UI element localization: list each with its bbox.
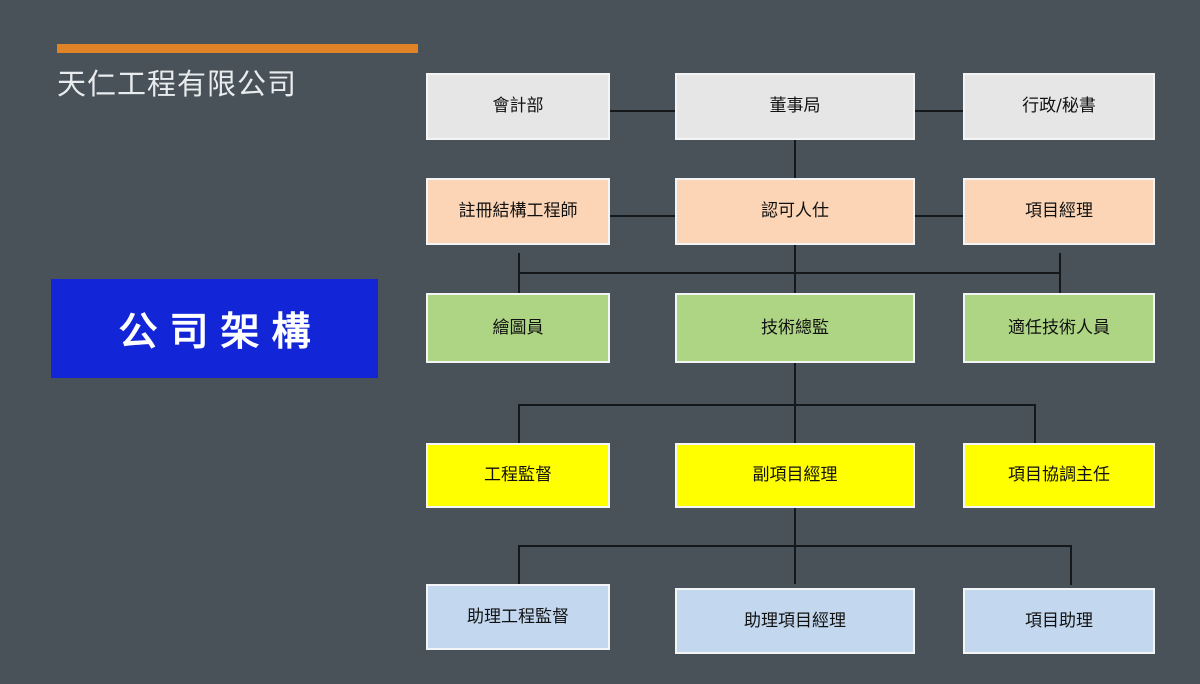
connector-accounting-board [610, 110, 676, 112]
node-label: 繪圖員 [493, 318, 544, 338]
node-project-coordinator[interactable]: 項目協調主任 [963, 443, 1155, 508]
node-qualified-technical-staff[interactable]: 適任技術人員 [963, 293, 1155, 363]
connector-level3-bus [518, 272, 1061, 274]
node-assistant-site-supervisor[interactable]: 助理工程監督 [426, 584, 610, 650]
node-project-assistant[interactable]: 項目助理 [963, 588, 1155, 654]
connector-board-admin [915, 110, 964, 112]
node-label: 項目協調主任 [1008, 465, 1110, 485]
node-label: 認可人仕 [761, 201, 829, 221]
node-project-manager[interactable]: 項目經理 [963, 178, 1155, 245]
node-technical-director[interactable]: 技術總監 [675, 293, 915, 363]
node-label: 行政/秘書 [1022, 96, 1096, 116]
node-label: 助理工程監督 [467, 607, 569, 627]
node-draftsman[interactable]: 繪圖員 [426, 293, 610, 363]
connector-board-authorized [794, 140, 796, 178]
node-admin-secretary[interactable]: 行政/秘書 [963, 73, 1155, 140]
connector-bus-to-sitesuper [518, 404, 520, 444]
node-deputy-project-manager[interactable]: 副項目經理 [675, 443, 915, 508]
connector-bus-to-projasst [1070, 545, 1072, 585]
node-site-supervisor[interactable]: 工程監督 [426, 443, 610, 508]
connector-authorized-pm [915, 215, 964, 217]
connector-bus-to-asstsuper [518, 545, 520, 585]
node-label: 技術總監 [761, 318, 829, 338]
org-chart: 會計部 董事局 行政/秘書 註冊結構工程師 認可人仕 項目經理 繪圖員 技術總監… [0, 0, 1200, 684]
node-assistant-project-manager[interactable]: 助理項目經理 [675, 588, 915, 654]
node-registered-structural-engineer[interactable]: 註冊結構工程師 [426, 178, 610, 245]
connector-bus-to-coordinator [1034, 404, 1036, 444]
connector-level4-bus [518, 404, 1036, 406]
node-label: 工程監督 [484, 465, 552, 485]
node-board[interactable]: 董事局 [675, 73, 915, 140]
org-chart-slide: 天仁工程有限公司 公司架構 會計部 董事局 [0, 0, 1200, 684]
node-label: 適任技術人員 [1008, 318, 1110, 338]
connector-level5-bus [518, 545, 1072, 547]
node-label: 註冊結構工程師 [459, 201, 578, 221]
connector-authorized-down [794, 245, 796, 293]
node-label: 董事局 [770, 96, 821, 116]
node-label: 項目經理 [1025, 201, 1093, 221]
node-authorized-person[interactable]: 認可人仕 [675, 178, 915, 245]
connector-techdirector-down [794, 363, 796, 443]
connector-bus-to-draftsman [518, 253, 520, 293]
node-label: 會計部 [493, 96, 544, 116]
node-label: 項目助理 [1025, 611, 1093, 631]
connector-rse-authorized [610, 215, 676, 217]
connector-bus-to-qualified [1059, 253, 1061, 293]
node-label: 助理項目經理 [744, 611, 846, 631]
node-accounting[interactable]: 會計部 [426, 73, 610, 140]
node-label: 副項目經理 [753, 465, 838, 485]
